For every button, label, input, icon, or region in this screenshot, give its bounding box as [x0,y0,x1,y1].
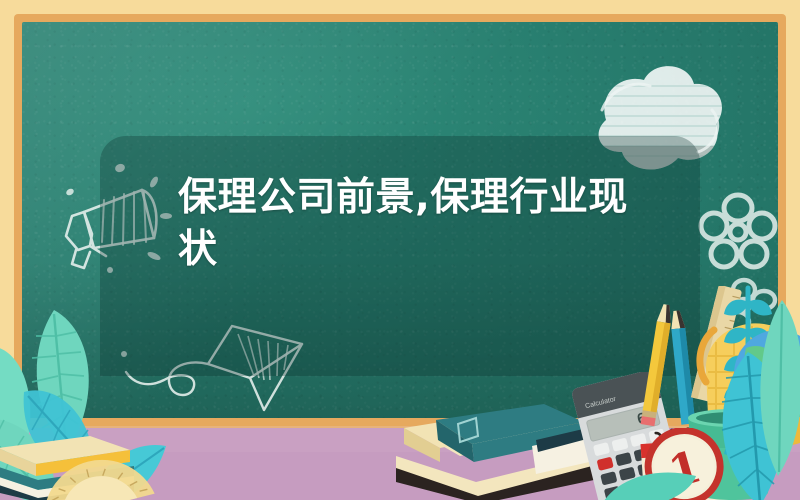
page-title: 保理公司前景,保理行业现 状 [178,172,658,276]
protractor [30,450,160,500]
plant-leaf-mint-right [752,300,800,480]
poster-canvas: 保理公司前景,保理行业现 状 [0,0,800,500]
plant-leaf-bottom-right [596,470,716,500]
flower-large-icon [694,188,778,278]
page-title-line-1: 保理公司前景,保理行业现 [178,172,658,224]
page-title-line-2: 状 [178,224,658,276]
book-stack-center [300,404,600,500]
